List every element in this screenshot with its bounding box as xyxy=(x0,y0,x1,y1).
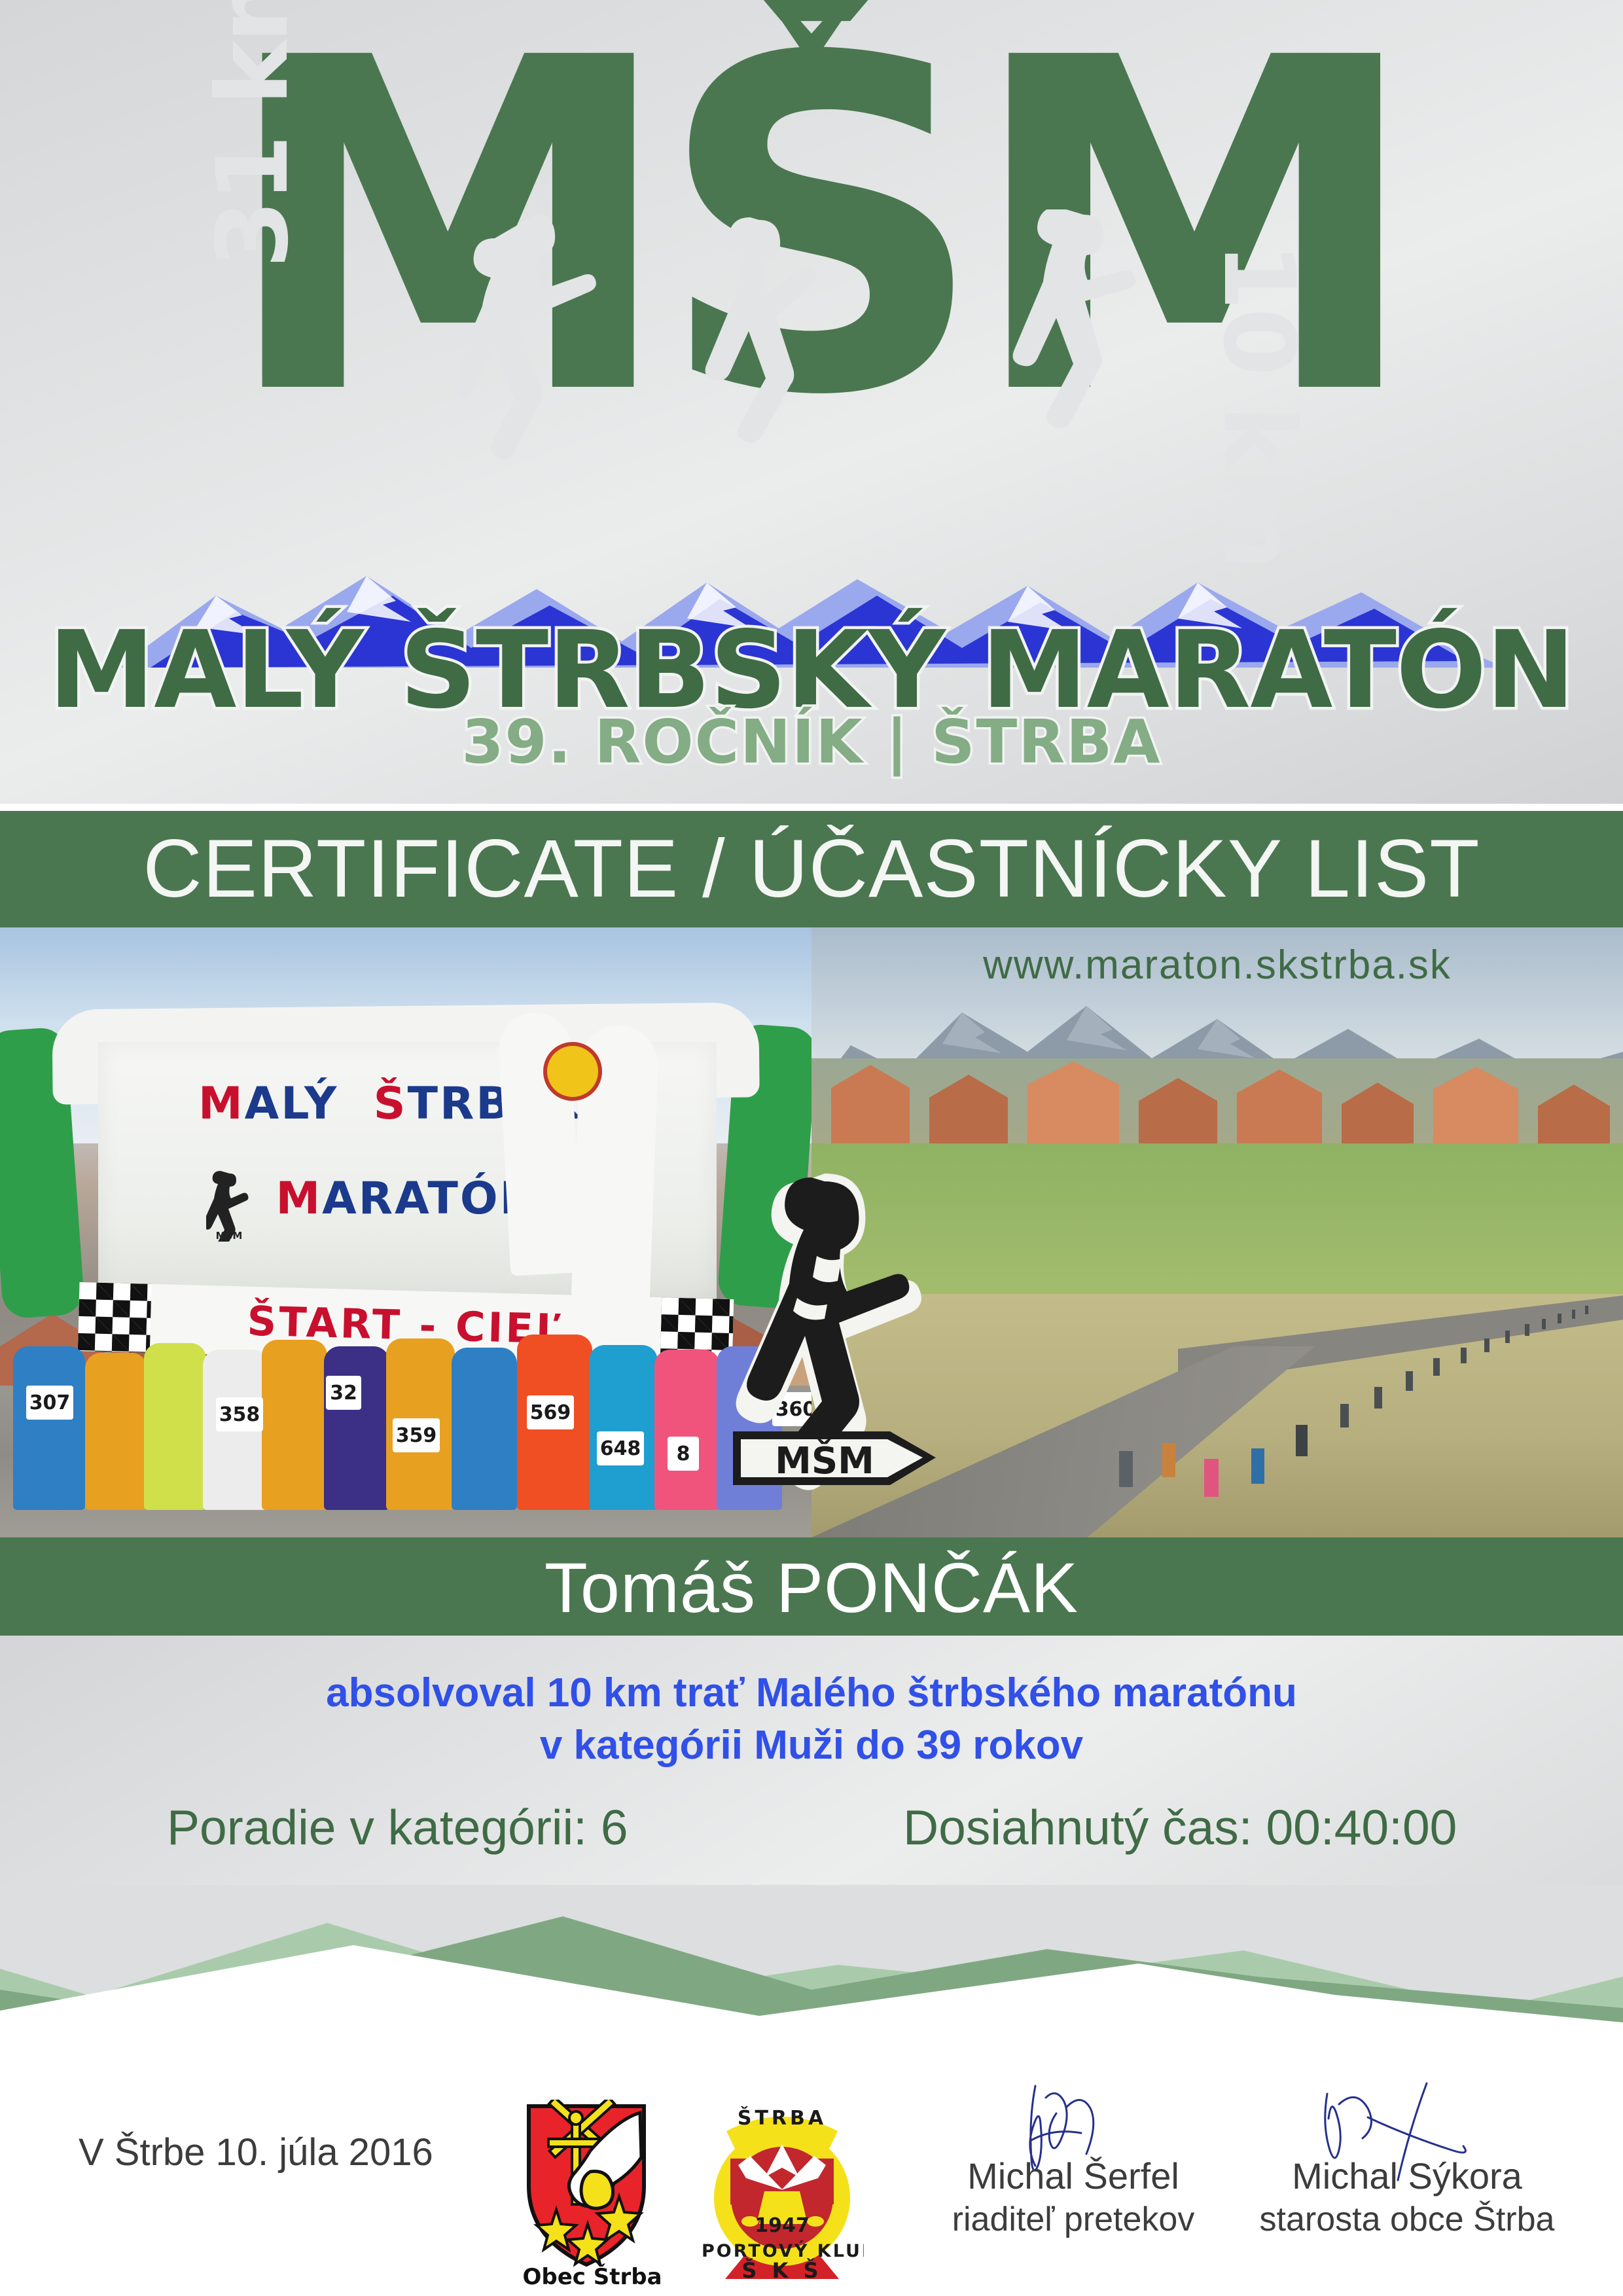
sponsor-flag-emblem xyxy=(543,1042,602,1101)
distance-badge-10km: 10 km xyxy=(1202,242,1315,567)
sks-club-logo-icon: ŠTRBA 1947 ŠPORTOVÝ KLUB Š K Š xyxy=(700,2093,864,2289)
sks-year: 1947 xyxy=(755,2214,810,2237)
obec-crest-label: Obec Štrba xyxy=(522,2263,662,2289)
sks-initials: Š K Š xyxy=(741,2257,822,2283)
bib-number: 359 xyxy=(393,1418,440,1452)
certificate-band: CERTIFICATE / ÚČASTNÍCKY LIST xyxy=(0,811,1623,927)
issue-date: V Štrbe 10. júla 2016 xyxy=(79,2130,433,2174)
distance-badge-31km: 31 km xyxy=(196,0,310,268)
results-row: Poradie v kategórii: 6 Dosiahnutý čas: 0… xyxy=(0,1799,1623,1871)
runner-body xyxy=(262,1340,327,1510)
runner-body xyxy=(452,1348,517,1510)
village-rooftops-graphic xyxy=(811,1049,1623,1153)
bib-number: 569 xyxy=(527,1395,574,1429)
runner-body xyxy=(324,1346,389,1510)
arch-m1: M xyxy=(198,1078,245,1130)
obec-strba-crest-icon: Obec Štrba xyxy=(517,2100,668,2289)
msm-runner-emblem-icon: MŠM xyxy=(726,1170,942,1490)
finish-time: Dosiahnutý čas: 00:40:00 xyxy=(903,1799,1457,1856)
signature-name: Michal Sýkora xyxy=(1204,2155,1610,2197)
photo-strip: MALÝ ŠTRBSKÝ MARATÓN MŠM MŠM ŠTART - CIE… xyxy=(0,927,1623,1537)
bib-number: 648 xyxy=(597,1431,644,1465)
description-line-1: absolvoval 10 km trať Malého štrbského m… xyxy=(0,1670,1623,1716)
bib-number: 307 xyxy=(26,1386,73,1420)
signature-role: starosta obce Štrba xyxy=(1204,2200,1610,2239)
runner-body xyxy=(654,1350,720,1510)
bib-number: 32 xyxy=(326,1376,361,1410)
event-subtitle: 39. ROČNÍK | ŠTRBA xyxy=(0,707,1623,777)
sks-top-text: ŠTRBA xyxy=(738,2106,827,2130)
bib-number: 358 xyxy=(216,1397,263,1431)
runner-body xyxy=(144,1343,206,1510)
participant-name-band: Tomáš PONČÁK xyxy=(0,1537,1623,1636)
details-section: absolvoval 10 km trať Malého štrbského m… xyxy=(0,1636,1623,1905)
header-logo-area: MŠM ˇ 31 km 10 km MALÝ ŠTRBSKÝ MARATÓN 3… xyxy=(0,0,1623,804)
bib-number: 8 xyxy=(668,1437,699,1471)
arch-m2: M xyxy=(276,1173,322,1225)
participant-name: Tomáš PONČÁK xyxy=(0,1547,1623,1628)
runner-silhouette-right-icon xyxy=(1001,209,1165,583)
description-line-2: v kategórii Muži do 39 rokov xyxy=(0,1722,1623,1768)
runner-silhouette-left-icon xyxy=(458,209,609,576)
msm-mini-runner-left-icon: MŠM xyxy=(206,1170,252,1242)
arch-s1: Š xyxy=(374,1078,408,1130)
certificate-title: CERTIFICATE / ÚČASTNÍCKY LIST xyxy=(0,822,1623,916)
runner-body xyxy=(589,1345,658,1510)
footer: V Štrbe 10. júla 2016 Obec Štrba xyxy=(0,2081,1623,2296)
distant-runners-graphic xyxy=(1099,1294,1623,1537)
footer-mountain-decoration xyxy=(0,1885,1623,2101)
msm-caron-accent: ˇ xyxy=(720,62,903,147)
category-rank: Poradie v kategórii: 6 xyxy=(167,1799,628,1856)
website-url[interactable]: www.maraton.skstrba.sk xyxy=(811,942,1623,988)
arch-maly: ALÝ xyxy=(245,1078,339,1130)
photo-start-line: MALÝ ŠTRBSKÝ MARATÓN MŠM MŠM ŠTART - CIE… xyxy=(0,927,811,1537)
svg-text:MŠM: MŠM xyxy=(216,1229,243,1242)
runner-silhouette-center-icon xyxy=(681,216,844,602)
runner-body xyxy=(13,1346,85,1510)
runner-crowd: 307 358 32 359 569 648 8 6 360 xyxy=(0,1314,811,1510)
runner-body xyxy=(85,1353,147,1510)
signature-block-mayor: Michal Sýkora starosta obce Štrba xyxy=(1204,2108,1610,2239)
msm-logo: MŠM ˇ 31 km 10 km xyxy=(0,26,1623,615)
certificate-page: MŠM ˇ 31 km 10 km MALÝ ŠTRBSKÝ MARATÓN 3… xyxy=(0,0,1623,2296)
emblem-text: MŠM xyxy=(775,1440,874,1482)
